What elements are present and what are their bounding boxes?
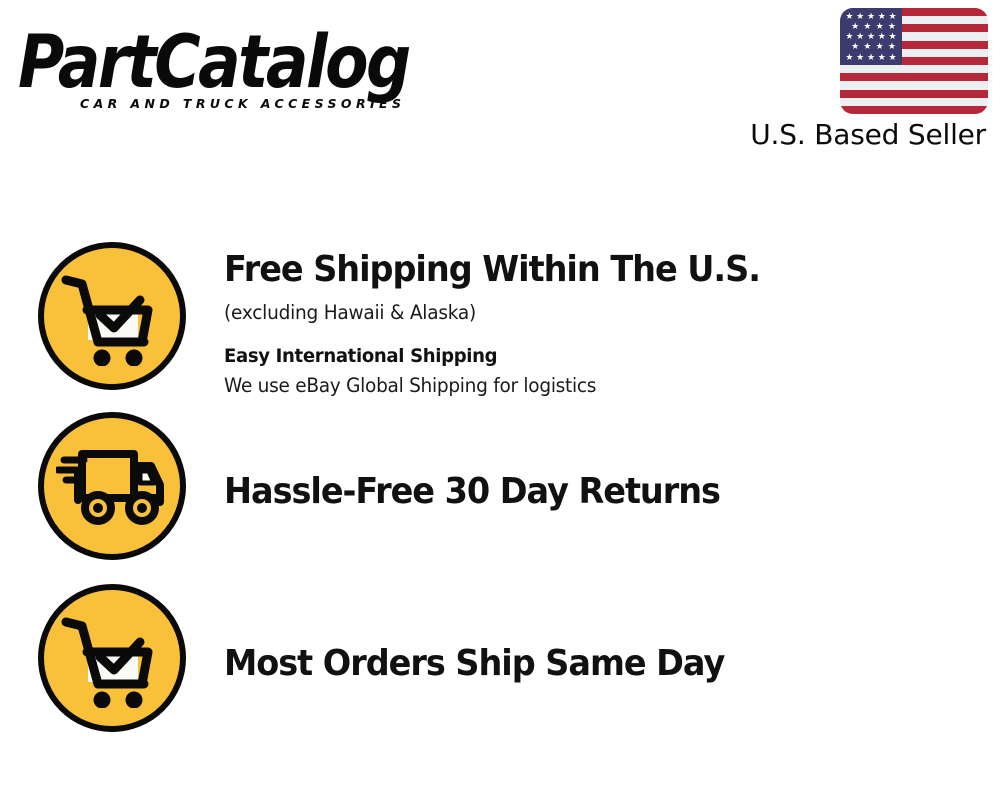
feature-icon-column xyxy=(0,412,224,560)
star-icon: ★ xyxy=(844,53,855,62)
star-icon: ★ xyxy=(844,32,855,41)
us-flag-icon: ★ ★ ★ ★ ★ ★ ★ ★ ★ ★ xyxy=(840,8,988,114)
feature-text-column: Free Shipping Within The U.S. (excluding… xyxy=(224,230,1000,400)
feature-list: Free Shipping Within The U.S. (excluding… xyxy=(0,230,1000,754)
feature-text-column: Hassle-Free 30 Day Returns xyxy=(224,412,1000,514)
star-icon: ★ xyxy=(887,12,898,21)
us-based-seller-badge: ★ ★ ★ ★ ★ ★ ★ ★ ★ ★ xyxy=(708,8,988,151)
star-icon: ★ xyxy=(874,42,886,51)
feature-sub-text: We use eBay Global Shipping for logistic… xyxy=(224,372,961,400)
shopping-cart-check-icon xyxy=(38,242,186,390)
star-row: ★ ★ ★ ★ xyxy=(844,42,898,52)
star-row: ★ ★ ★ ★ xyxy=(844,21,898,31)
brand-tagline-row: CAR AND TRUCK ACCESSORIES xyxy=(80,96,500,111)
flag-stripe xyxy=(840,106,988,114)
flag-stars: ★ ★ ★ ★ ★ ★ ★ ★ ★ ★ xyxy=(840,8,902,65)
flag-stripe xyxy=(840,98,988,106)
star-icon: ★ xyxy=(861,22,873,31)
star-row: ★ ★ ★ ★ ★ xyxy=(844,31,898,41)
star-icon: ★ xyxy=(874,22,886,31)
feature-title: Most Orders Ship Same Day xyxy=(224,642,946,686)
feature-sub-heading: Easy International Shipping xyxy=(224,342,961,370)
brand-wordmark: PartCatalog xyxy=(18,22,508,102)
delivery-truck-icon xyxy=(38,412,186,560)
us-based-seller-label: U.S. Based Seller xyxy=(750,118,986,151)
feature-title: Free Shipping Within The U.S. xyxy=(224,248,946,292)
flag-stripe xyxy=(840,73,988,81)
star-icon: ★ xyxy=(886,42,898,51)
flag-canton: ★ ★ ★ ★ ★ ★ ★ ★ ★ ★ xyxy=(840,8,902,65)
promo-banner: PartCatalog CAR AND TRUCK ACCESSORIES xyxy=(0,0,1000,800)
star-icon: ★ xyxy=(849,42,861,51)
star-icon: ★ xyxy=(855,53,866,62)
feature-row: Hassle-Free 30 Day Returns xyxy=(0,412,1000,584)
star-icon: ★ xyxy=(849,22,861,31)
star-icon: ★ xyxy=(876,53,887,62)
star-icon: ★ xyxy=(886,22,898,31)
flag-stripe xyxy=(840,65,988,73)
star-icon: ★ xyxy=(887,32,898,41)
star-icon: ★ xyxy=(866,32,877,41)
banner-header: PartCatalog CAR AND TRUCK ACCESSORIES xyxy=(0,0,1000,165)
flag-stripe xyxy=(840,81,988,89)
shopping-cart-check-icon xyxy=(38,584,186,732)
feature-text-column: Most Orders Ship Same Day xyxy=(224,584,1000,686)
star-icon: ★ xyxy=(844,12,855,21)
flag-stripe xyxy=(840,90,988,98)
star-icon: ★ xyxy=(866,12,877,21)
star-icon: ★ xyxy=(876,12,887,21)
feature-icon-column xyxy=(0,584,224,732)
star-icon: ★ xyxy=(855,32,866,41)
feature-row: Free Shipping Within The U.S. (excluding… xyxy=(0,230,1000,412)
feature-note: (excluding Hawaii & Alaska) xyxy=(224,298,961,328)
star-icon: ★ xyxy=(861,42,873,51)
star-icon: ★ xyxy=(855,12,866,21)
star-icon: ★ xyxy=(887,53,898,62)
brand-tagline: CAR AND TRUCK ACCESSORIES xyxy=(80,96,405,111)
feature-title: Hassle-Free 30 Day Returns xyxy=(224,470,946,514)
star-row: ★ ★ ★ ★ ★ xyxy=(844,52,898,62)
star-icon: ★ xyxy=(866,53,877,62)
feature-row: Most Orders Ship Same Day xyxy=(0,584,1000,754)
feature-icon-column xyxy=(0,230,224,390)
star-icon: ★ xyxy=(876,32,887,41)
partcatalog-logo[interactable]: PartCatalog CAR AND TRUCK ACCESSORIES xyxy=(18,22,498,117)
star-row: ★ ★ ★ ★ ★ xyxy=(844,11,898,21)
